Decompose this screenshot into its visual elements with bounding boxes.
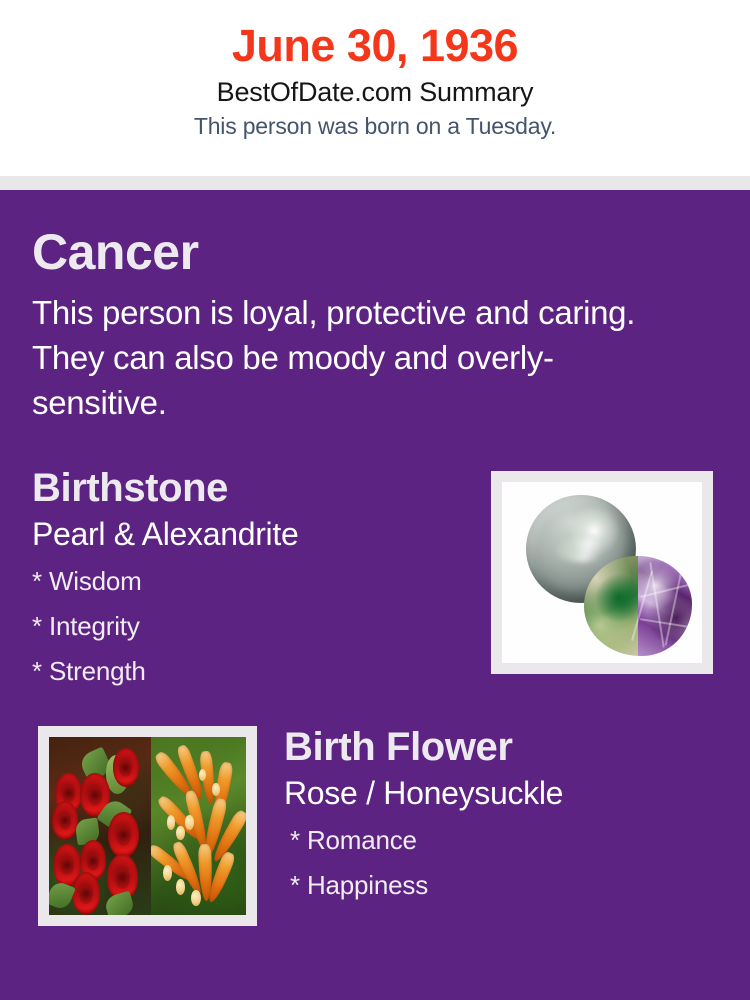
- honeysuckle-tip: [167, 815, 176, 829]
- birth-flower-photo-canvas: [49, 737, 246, 915]
- birth-flower-trait-list: * Romance * Happiness: [284, 818, 718, 908]
- birthstone-photo: [491, 471, 713, 674]
- birth-flower-section: Birth Flower Rose / Honeysuckle * Romanc…: [32, 722, 718, 927]
- birth-flower-heading: Birth Flower: [284, 722, 718, 772]
- page-header: June 30, 1936 BestOfDate.com Summary Thi…: [0, 0, 750, 176]
- header-divider: [0, 176, 750, 190]
- birth-flower-photo: [38, 726, 257, 926]
- zodiac-description: This person is loyal, protective and car…: [32, 282, 652, 425]
- rose-bloom: [108, 812, 139, 858]
- rose-bloom: [113, 748, 140, 787]
- birth-flower-text-block: Birth Flower Rose / Honeysuckle * Romanc…: [284, 722, 718, 908]
- site-summary-label: BestOfDate.com Summary: [0, 74, 750, 110]
- alexandrite-rough-half: [584, 556, 638, 656]
- honeysuckle-tip: [163, 865, 172, 881]
- zodiac-panel: Cancer This person is loyal, protective …: [0, 190, 750, 1000]
- honeysuckle-tip: [191, 890, 200, 906]
- honeysuckle-tip: [185, 815, 194, 829]
- birthstone-section: Birthstone Pearl & Alexandrite * Wisdom …: [32, 463, 718, 694]
- list-item: * Happiness: [284, 863, 718, 908]
- honeysuckle-tip: [176, 826, 185, 840]
- honeysuckle-tip: [176, 879, 185, 895]
- zodiac-sign-name: Cancer: [32, 190, 718, 282]
- rose-bloom: [52, 801, 78, 840]
- roses-photo-panel: [49, 737, 151, 915]
- facet-line: [650, 563, 665, 648]
- facet-line: [664, 567, 682, 645]
- born-day-label: This person was born on a Tuesday.: [0, 110, 750, 142]
- birth-flower-names: Rose / Honeysuckle: [284, 772, 718, 814]
- facet-line: [640, 618, 688, 627]
- honeysuckle-photo-panel: [151, 737, 246, 915]
- birthstone-photo-canvas: [502, 482, 702, 663]
- alexandrite-faceted-half: [638, 556, 692, 656]
- list-item: * Romance: [284, 818, 718, 863]
- honeysuckle-tip: [212, 783, 220, 795]
- rose-bloom: [72, 872, 101, 915]
- alexandrite-gem-icon: [584, 556, 692, 656]
- page-title: June 30, 1936: [0, 18, 750, 74]
